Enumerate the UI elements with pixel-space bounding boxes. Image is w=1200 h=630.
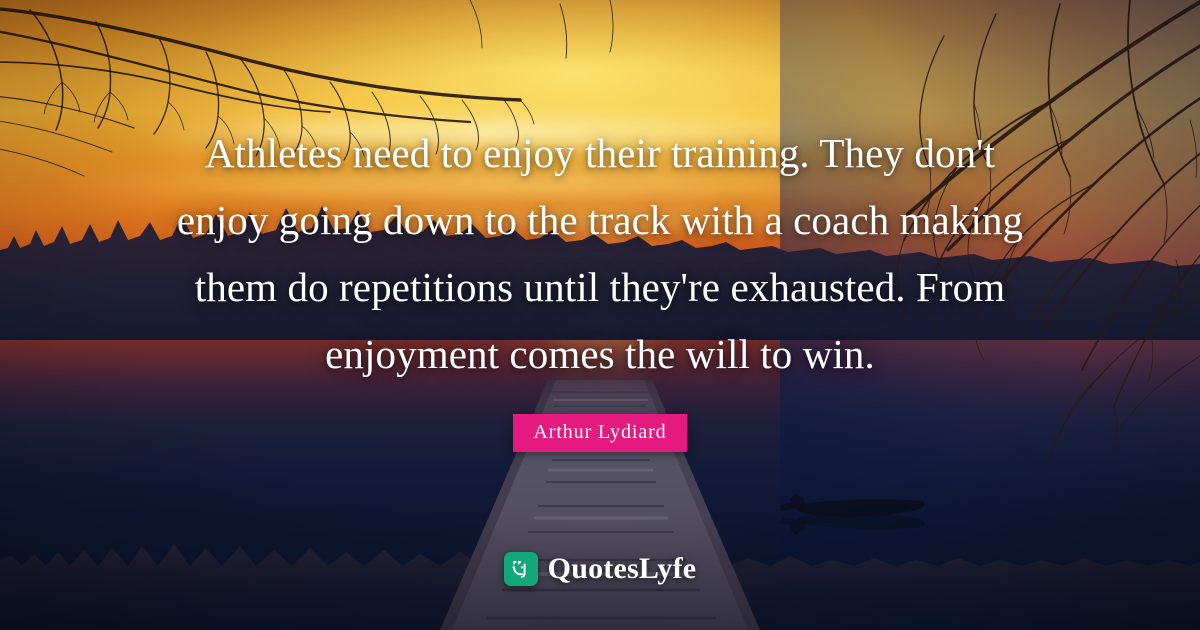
quote-text: Athletes need to enjoy their training. T…: [165, 120, 1035, 388]
quote-card: Athletes need to enjoy their training. T…: [0, 0, 1200, 630]
author-badge[interactable]: Arthur Lydiard: [513, 414, 686, 452]
brand-name: QuotesLyfe: [548, 554, 697, 584]
smiley-quote-logo-icon: [504, 552, 538, 586]
brand-logo[interactable]: QuotesLyfe: [0, 552, 1200, 586]
card-content: Athletes need to enjoy their training. T…: [0, 0, 1200, 630]
